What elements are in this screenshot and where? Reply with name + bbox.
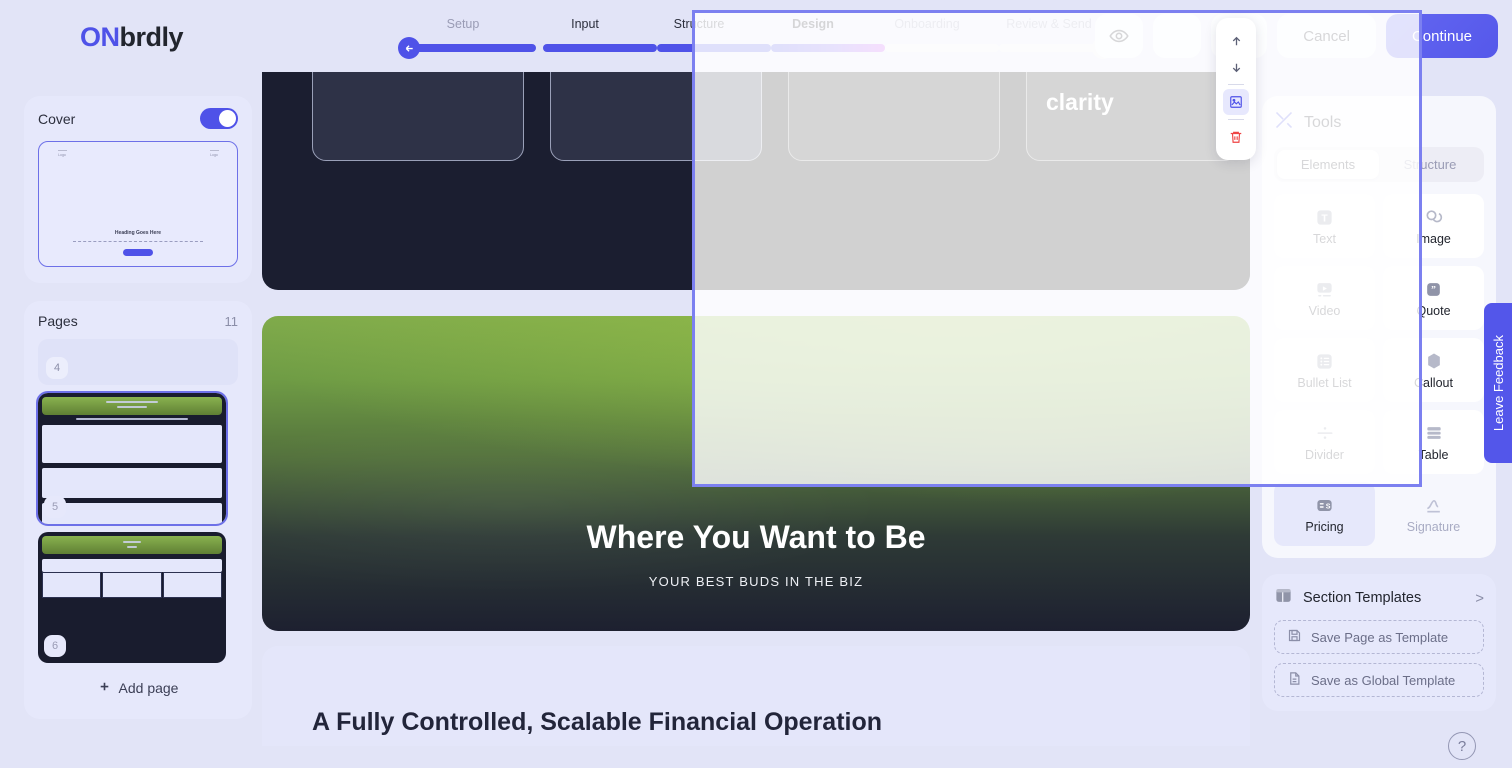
progress-steps: Setup Input Structure Design Onboarding … (398, 12, 1114, 57)
tool-bullet-list[interactable]: Bullet List (1274, 338, 1375, 402)
text-icon: T (1314, 206, 1336, 228)
pages-panel: Pages 11 4 5 6 (24, 301, 252, 719)
tool-label: Quote (1416, 304, 1450, 318)
continue-button[interactable]: Continue (1386, 14, 1498, 58)
page-thumb-6[interactable]: 6 (38, 532, 226, 663)
tools-title: Tools (1304, 114, 1341, 132)
cancel-button[interactable]: Cancel (1277, 14, 1376, 58)
cover-thumb-heading: Heading Goes Here (39, 230, 237, 236)
tab-elements[interactable]: Elements (1277, 150, 1379, 179)
page-number-badge: 5 (44, 496, 66, 518)
plus-icon (98, 680, 111, 696)
move-up-icon[interactable] (1223, 28, 1249, 54)
tools-header: Tools (1274, 110, 1484, 135)
save-as-global-template-button[interactable]: Save as Global Template (1274, 663, 1484, 697)
question-mark-icon: ? (1458, 738, 1466, 755)
tool-label: Video (1309, 304, 1341, 318)
add-page-label: Add page (119, 680, 179, 696)
callout-icon (1423, 350, 1445, 372)
toggle-knob (219, 110, 236, 127)
document-icon (1287, 671, 1302, 689)
top-actions: Cancel Continue (1095, 14, 1498, 58)
step-label-setup[interactable]: Setup (447, 17, 480, 31)
page-thumb-header (42, 397, 222, 415)
image-icon (1423, 206, 1445, 228)
page-thumb-5[interactable]: 5 (38, 393, 226, 524)
hero-title: Where You Want to Be (262, 519, 1250, 556)
step-label-input[interactable]: Input (571, 17, 599, 31)
pages-header: Pages 11 (38, 313, 238, 329)
svg-text:T: T (1321, 213, 1328, 224)
page-thumb-partial[interactable]: 4 (38, 339, 238, 385)
step-label-row: Setup Input Structure Design Onboarding … (398, 12, 1114, 32)
tool-text[interactable]: T Text (1274, 194, 1375, 258)
tool-label: Signature (1407, 520, 1461, 534)
move-down-icon[interactable] (1223, 54, 1249, 80)
hero-subtitle: YOUR BEST BUDS IN THE BIZ (262, 574, 1250, 589)
canvas-card-clarity[interactable]: clarity (1026, 72, 1238, 161)
tool-table[interactable]: Table (1383, 410, 1484, 474)
progress-back-button[interactable] (398, 37, 420, 59)
divider-icon (1314, 422, 1336, 444)
svg-text:”: ” (1431, 285, 1436, 295)
tab-structure[interactable]: Structure (1379, 150, 1481, 179)
tools-icon (1274, 110, 1294, 135)
tool-image[interactable]: Image (1383, 194, 1484, 258)
progress-segment-2 (543, 44, 657, 52)
cover-logo-left: Logo (49, 150, 75, 157)
section-templates-header[interactable]: Section Templates > (1274, 586, 1484, 610)
button-label: Save Page as Template (1311, 630, 1448, 645)
preview-button[interactable] (1095, 14, 1143, 58)
cover-title: Cover (38, 111, 75, 127)
progress-segment-1 (408, 44, 536, 52)
page-number-badge: 6 (44, 635, 66, 657)
logo-suffix: brdly (120, 22, 184, 52)
tool-label: Callout (1414, 376, 1453, 390)
tools-grid: T Text Image Video ” Quote (1274, 194, 1484, 546)
canvas-section-cards[interactable]: clarity (262, 72, 1250, 290)
section-templates-panel: Section Templates > Save Page as Templat… (1262, 574, 1496, 711)
tool-divider[interactable]: Divider (1274, 410, 1375, 474)
tool-label: Table (1419, 448, 1449, 462)
toolbar-divider (1228, 84, 1244, 85)
page-number-badge: 4 (46, 357, 68, 379)
step-label-design[interactable]: Design (792, 17, 834, 31)
tool-label: Divider (1305, 448, 1344, 462)
canvas-bottom-heading[interactable]: A Fully Controlled, Scalable Financial O… (312, 708, 882, 737)
quote-icon: ” (1423, 278, 1445, 300)
block-floating-toolbar (1216, 18, 1256, 160)
tool-label: Image (1416, 232, 1451, 246)
table-icon (1423, 422, 1445, 444)
right-panel: Tools Elements Structure T Text Image (1262, 96, 1496, 711)
canvas-card[interactable] (312, 72, 524, 161)
chevron-right-icon[interactable]: > (1475, 590, 1484, 607)
tool-pricing[interactable]: S Pricing (1274, 482, 1375, 546)
canvas-card-row: clarity (312, 72, 1238, 161)
tools-tabs: Elements Structure (1274, 147, 1484, 182)
secondary-action-button[interactable] (1153, 14, 1201, 58)
section-templates-title: Section Templates (1303, 590, 1465, 606)
tool-quote[interactable]: ” Quote (1383, 266, 1484, 330)
leave-feedback-tab[interactable]: Leave Feedback (1484, 303, 1512, 463)
save-page-as-template-button[interactable]: Save Page as Template (1274, 620, 1484, 654)
help-button[interactable]: ? (1448, 732, 1476, 760)
step-label-onboarding[interactable]: Onboarding (894, 17, 959, 31)
add-page-button[interactable]: Add page (38, 671, 238, 705)
cover-thumb-rule (73, 241, 203, 242)
tool-label: Bullet List (1297, 376, 1351, 390)
pages-title: Pages (38, 313, 78, 329)
pricing-icon: S (1314, 494, 1336, 516)
step-label-structure[interactable]: Structure (674, 17, 725, 31)
tool-label: Pricing (1305, 520, 1343, 534)
logo-prefix: ON (80, 22, 120, 52)
cover-panel: Cover Logo Logo Heading Goes Here (24, 96, 252, 283)
step-label-review-send[interactable]: Review & Send (1006, 17, 1091, 31)
canvas-section-hero[interactable]: Where You Want to Be YOUR BEST BUDS IN T… (262, 316, 1250, 631)
cover-thumbnail[interactable]: Logo Logo Heading Goes Here (38, 141, 238, 267)
templates-icon (1274, 586, 1293, 610)
tool-video[interactable]: Video (1274, 266, 1375, 330)
button-label: Save as Global Template (1311, 673, 1455, 688)
cover-thumb-button (123, 249, 153, 256)
tool-label: Text (1313, 232, 1336, 246)
app-logo[interactable]: ONbrdly (80, 20, 183, 54)
progress-segment-4 (771, 44, 885, 52)
svg-text:S: S (1326, 502, 1331, 510)
image-block-icon[interactable] (1223, 89, 1249, 115)
tool-callout[interactable]: Callout (1383, 338, 1484, 402)
progress-segment-3 (657, 44, 771, 52)
cover-toggle[interactable] (200, 108, 238, 129)
bullet-list-icon (1314, 350, 1336, 372)
left-sidebar: Cover Logo Logo Heading Goes Here Pages … (24, 96, 252, 719)
video-icon (1314, 278, 1336, 300)
cover-header: Cover (38, 108, 238, 129)
leave-feedback-label: Leave Feedback (1491, 335, 1506, 431)
save-icon (1287, 628, 1302, 646)
pages-count: 11 (225, 314, 239, 329)
progress-track (398, 40, 1114, 56)
canvas-card[interactable] (788, 72, 1000, 161)
tool-signature: Signature (1383, 482, 1484, 546)
canvas-card-word: clarity (1046, 89, 1114, 116)
top-bar: ONbrdly Setup Input Structure Design Onb… (0, 0, 1512, 72)
canvas-card[interactable] (550, 72, 762, 161)
signature-icon (1423, 494, 1445, 516)
progress-segment-5 (885, 44, 999, 52)
toolbar-divider (1228, 119, 1244, 120)
cover-logo-right: Logo (201, 150, 227, 157)
delete-icon[interactable] (1223, 124, 1249, 150)
document-canvas[interactable]: clarity Where You Want to Be YOUR BEST B… (262, 72, 1250, 746)
page-thumb-header (42, 536, 222, 554)
tools-panel: Tools Elements Structure T Text Image (1262, 96, 1496, 558)
